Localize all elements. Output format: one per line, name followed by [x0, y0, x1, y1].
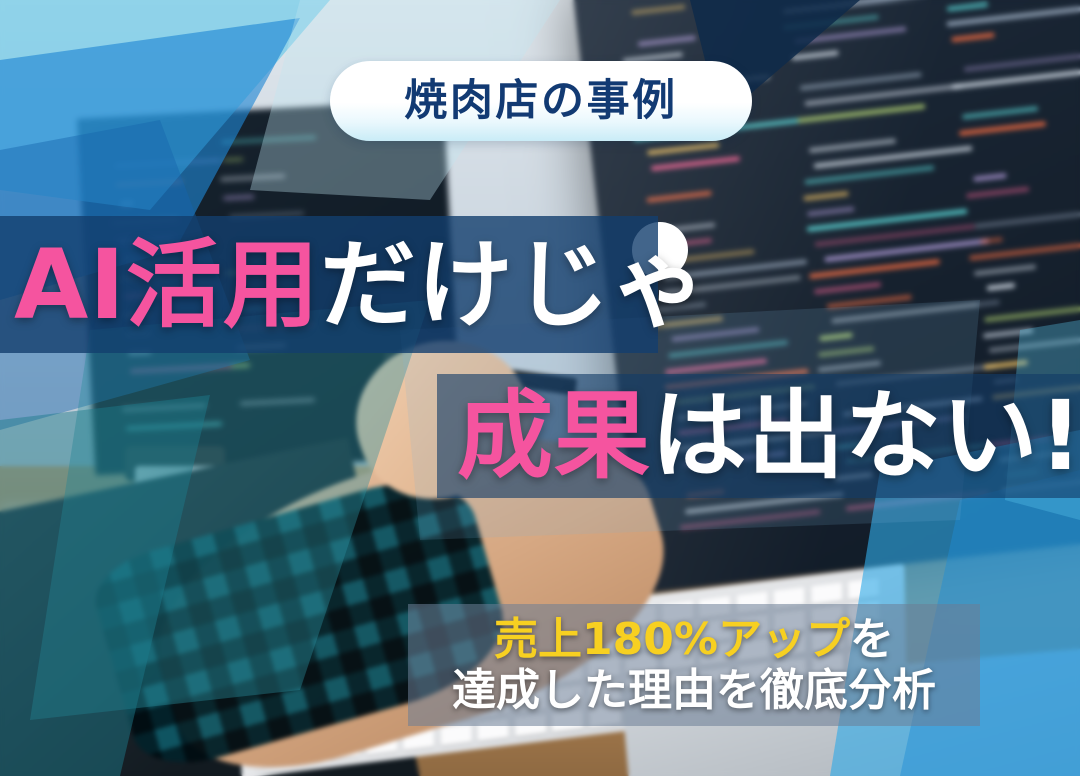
subheadline-line1: 売上180%アップを: [494, 615, 894, 664]
subheadline-line1-highlight: 売上180%アップ: [494, 614, 850, 665]
subheadline-line1-rest: を: [850, 614, 894, 665]
case-study-badge-label: 焼肉店の事例: [404, 80, 677, 123]
subheadline-band: 売上180%アップを 達成した理由を徹底分析: [408, 604, 980, 726]
headline-line2-rest: は出ない!: [651, 388, 1080, 484]
headline-band-primary: AI活用 だけじゃ: [0, 216, 658, 353]
headline-band-secondary: 成果 は出ない!: [437, 374, 1080, 498]
subheadline-line2: 達成した理由を徹底分析: [452, 666, 936, 715]
headline-line2-highlight: 成果: [457, 388, 651, 484]
thumbnail-canvas: 焼肉店の事例 AI活用 だけじゃ 成果 は出ない! 売上180%アップを 達成し…: [0, 0, 1080, 776]
headline-line1-highlight: AI活用: [14, 237, 320, 333]
headline-line1-rest: だけじゃ: [320, 237, 708, 333]
case-study-badge: 焼肉店の事例: [330, 61, 752, 141]
